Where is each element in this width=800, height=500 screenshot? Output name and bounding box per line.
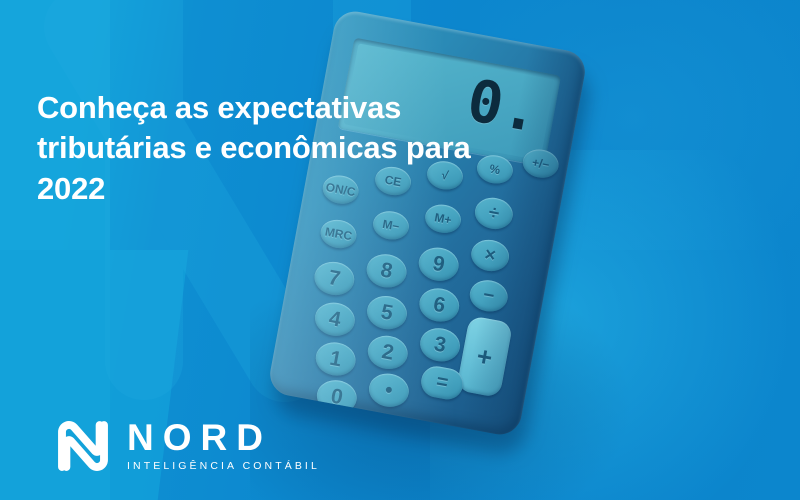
calculator-key-6: 6 (417, 285, 462, 325)
calculator-key-mrc: MRC (318, 217, 358, 251)
calculator-key-7: 7 (312, 259, 357, 299)
calculator-key-decimal: • (366, 370, 411, 410)
headline-line-2: tributárias e econômicas para (37, 128, 577, 168)
calculator-key-9: 9 (416, 244, 461, 284)
calculator-key-1: 1 (313, 339, 358, 379)
page-title: Conheça as expectativas tributárias e ec… (37, 88, 577, 209)
calculator-key-plus: + (456, 315, 513, 398)
logo-tagline: INTELIGÊNCIA CONTÁBIL (127, 459, 320, 473)
calculator-key-minus: − (467, 277, 510, 314)
calculator-key-8: 8 (364, 251, 409, 291)
logo-wordmark: NORD (127, 419, 320, 456)
banner-image: 0. ON/C CE √ % +/− MRC M− M+ ÷ 7 8 9 × (0, 0, 800, 500)
calculator-key-4: 4 (312, 299, 357, 339)
calculator-key-multiply: × (469, 237, 512, 274)
nord-n-monogram-icon (55, 418, 111, 474)
logo-text-block: NORD INTELIGÊNCIA CONTÁBIL (127, 419, 320, 473)
headline-line-3: 2022 (37, 169, 577, 209)
calculator-key-equals: = (419, 364, 466, 402)
calculator-key-5: 5 (364, 293, 409, 333)
calculator-key-2: 2 (365, 333, 410, 373)
calculator-key-m-minus: M− (371, 208, 411, 242)
calculator-key-3: 3 (417, 325, 462, 365)
headline-line-1: Conheça as expectativas (37, 88, 577, 128)
logo: NORD INTELIGÊNCIA CONTÁBIL (55, 418, 320, 474)
